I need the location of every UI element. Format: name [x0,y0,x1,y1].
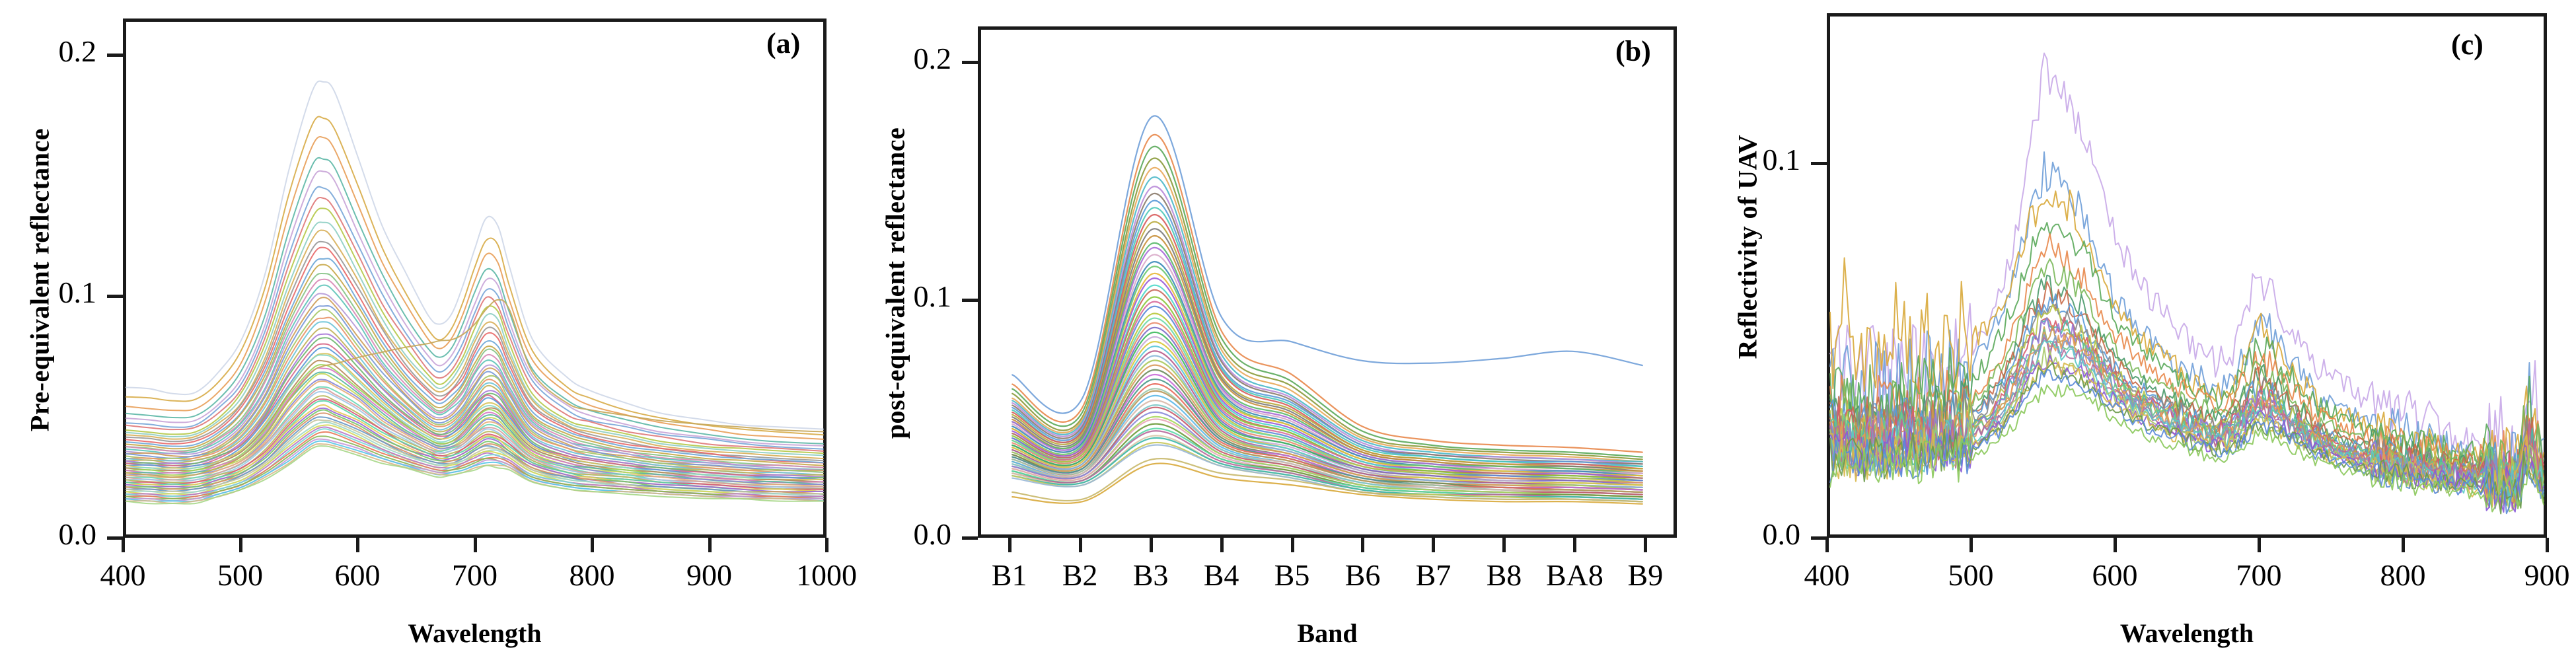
x-axis-label-c: Wavelength [1827,618,2547,649]
x-axis-label-b: Band [978,618,1677,649]
figure-root: (a) Pre-equivalent reflectance Wavelengt… [0,0,2576,656]
x-tick-mark [1432,538,1435,552]
x-tick-label: 900 [650,558,769,593]
y-tick-label: 0.2 [0,34,96,69]
y-axis-label-c: Reflectivity of UAV [1732,82,1763,412]
plot-area-c [1827,13,2547,538]
spectral-curves-a [126,22,823,534]
spectral-curves-b [981,30,1674,534]
panel-c: (c) Reflectivity of UAV Wavelength 40050… [1705,0,2576,656]
x-tick-mark [708,538,712,552]
y-tick-mark [962,299,978,302]
x-tick-label: 800 [2343,558,2462,593]
x-tick-label: 700 [416,558,534,593]
y-tick-mark [107,536,123,540]
x-tick-mark [1008,538,1012,552]
x-tick-mark [1969,538,1973,552]
y-tick-mark [962,61,978,64]
x-tick-mark [239,538,242,552]
y-tick-mark [107,295,123,298]
y-tick-label: 0.1 [1629,142,1800,177]
panel-a: (a) Pre-equivalent reflectance Wavelengt… [0,0,852,656]
x-tick-mark [1573,538,1576,552]
x-tick-mark [2258,538,2261,552]
x-tick-mark [1150,538,1153,552]
y-tick-mark [1811,162,1827,165]
x-tick-label: 500 [1911,558,2030,593]
y-tick-label: 0.1 [0,275,96,310]
x-tick-label: 900 [2487,558,2576,593]
x-tick-mark [122,538,125,552]
x-tick-mark [474,538,477,552]
y-tick-label: 0.0 [0,517,96,552]
y-tick-label: 0.1 [780,279,951,314]
x-tick-mark [1361,538,1364,552]
plot-area-a [123,18,827,538]
x-tick-mark [1291,538,1294,552]
x-tick-mark [2402,538,2405,552]
x-tick-mark [2114,538,2117,552]
x-tick-mark [356,538,359,552]
x-tick-label: 600 [298,558,417,593]
y-tick-mark [1811,536,1827,540]
panel-b: (b) post-equivalent reflectance Band B1B… [852,0,1705,656]
y-tick-mark [962,536,978,540]
panel-label-b: (b) [1615,34,1651,68]
x-tick-label: 800 [533,558,651,593]
x-tick-label: 400 [1767,558,1886,593]
x-tick-mark [591,538,594,552]
x-tick-mark [1825,538,1829,552]
x-tick-mark [1502,538,1506,552]
x-tick-mark [1079,538,1082,552]
y-tick-label: 0.0 [780,517,951,552]
x-tick-label: 600 [2055,558,2174,593]
x-tick-label: 400 [63,558,182,593]
x-tick-mark [1220,538,1224,552]
x-axis-label-a: Wavelength [123,618,827,649]
x-tick-mark [2546,538,2549,552]
x-tick-label: 500 [181,558,300,593]
plot-area-b [978,26,1677,538]
panel-label-c: (c) [2451,28,2484,61]
spectral-curves-c [1830,17,2544,534]
x-tick-label: 700 [2199,558,2318,593]
x-tick-label: B9 [1586,558,1705,593]
y-tick-mark [107,54,123,57]
y-tick-label: 0.2 [780,41,951,76]
y-tick-label: 0.0 [1629,517,1800,552]
